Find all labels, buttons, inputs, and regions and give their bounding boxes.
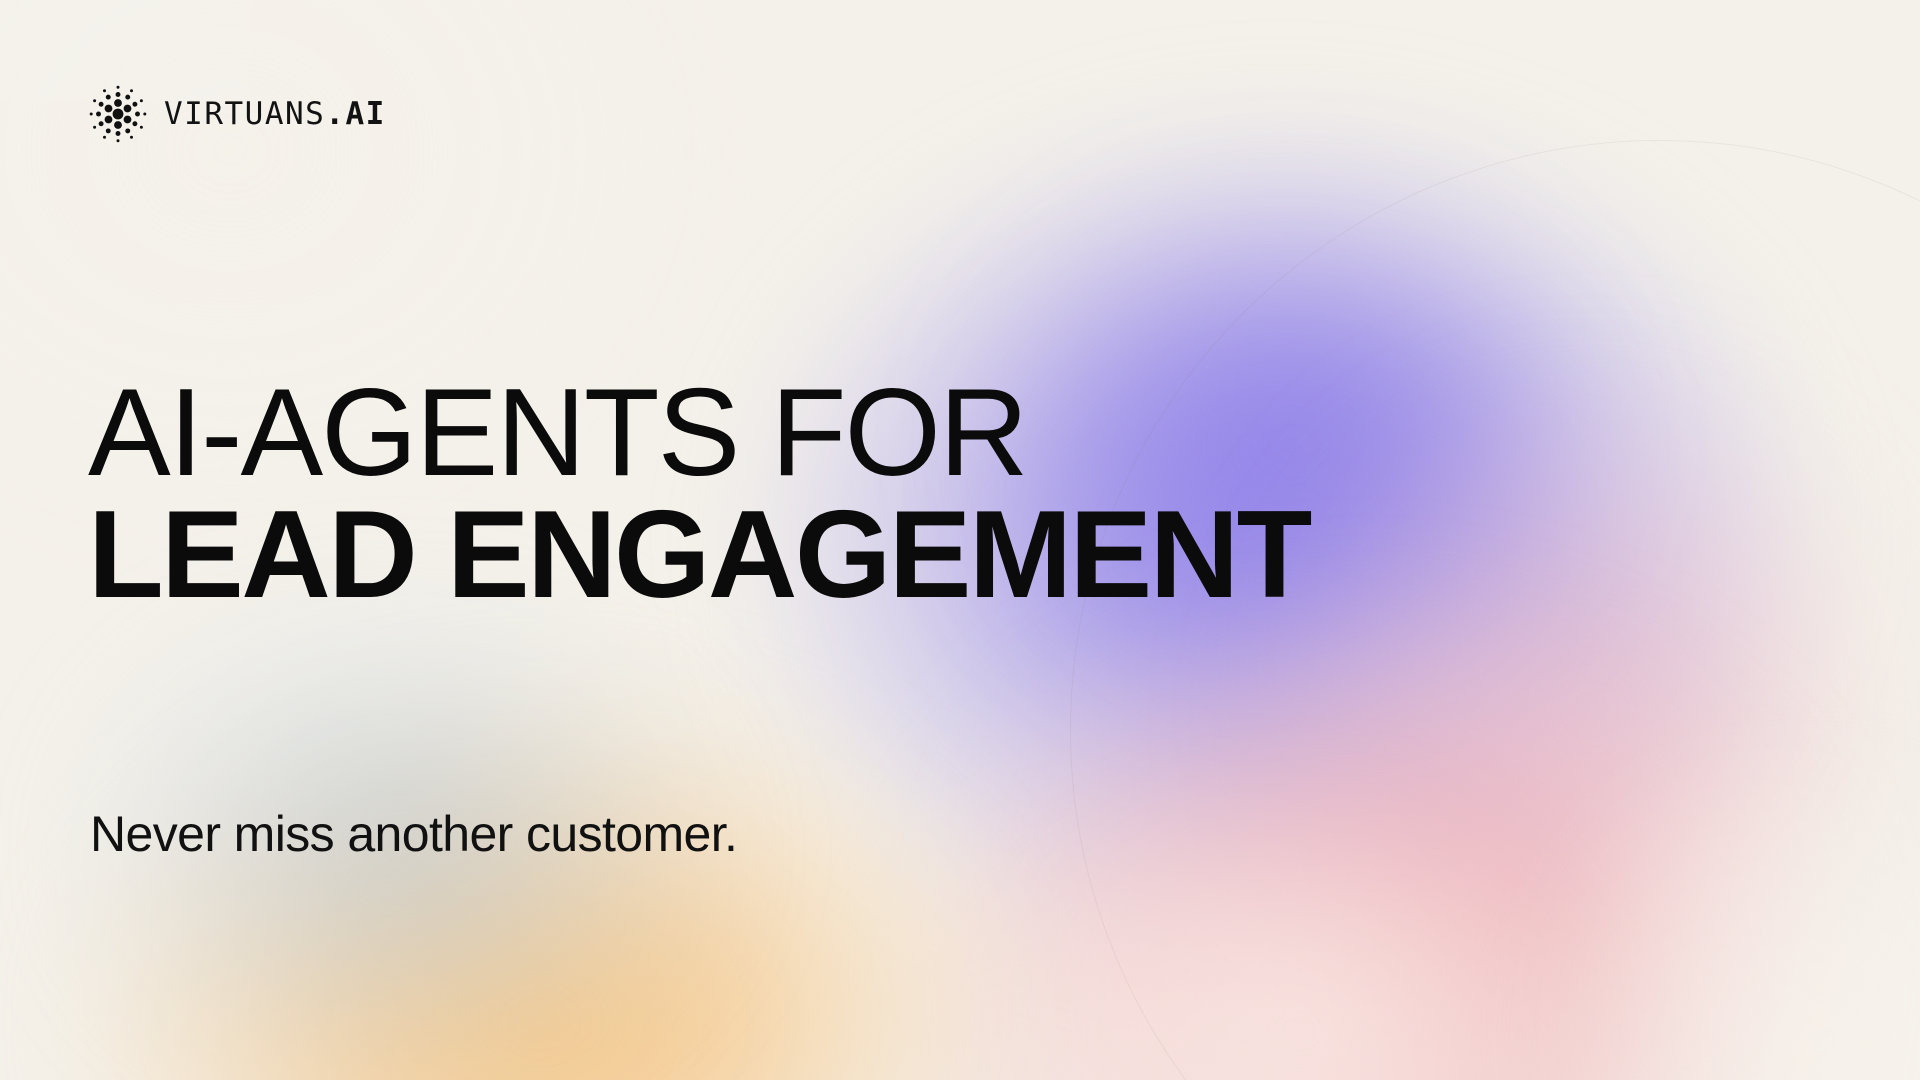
brand-wordmark-main: VIRTUANS [164,96,325,132]
dot-cluster-logo-mark [88,84,148,144]
brand-logo-lockup[interactable]: VIRTUANS.AI [88,84,386,144]
hero-subtitle: Never miss another customer. [90,805,737,863]
hero-headline: AI-AGENTS FOR LEAD ENGAGEMENT [88,372,1310,616]
brand-wordmark: VIRTUANS.AI [164,96,386,132]
brand-wordmark-suffix: .AI [325,96,386,132]
hero-slide: VIRTUANS.AI AI-AGENTS FOR LEAD ENGAGEMEN… [0,0,1920,1080]
headline-line-1: AI-AGENTS FOR [88,372,1310,494]
headline-line-2: LEAD ENGAGEMENT [88,494,1310,616]
